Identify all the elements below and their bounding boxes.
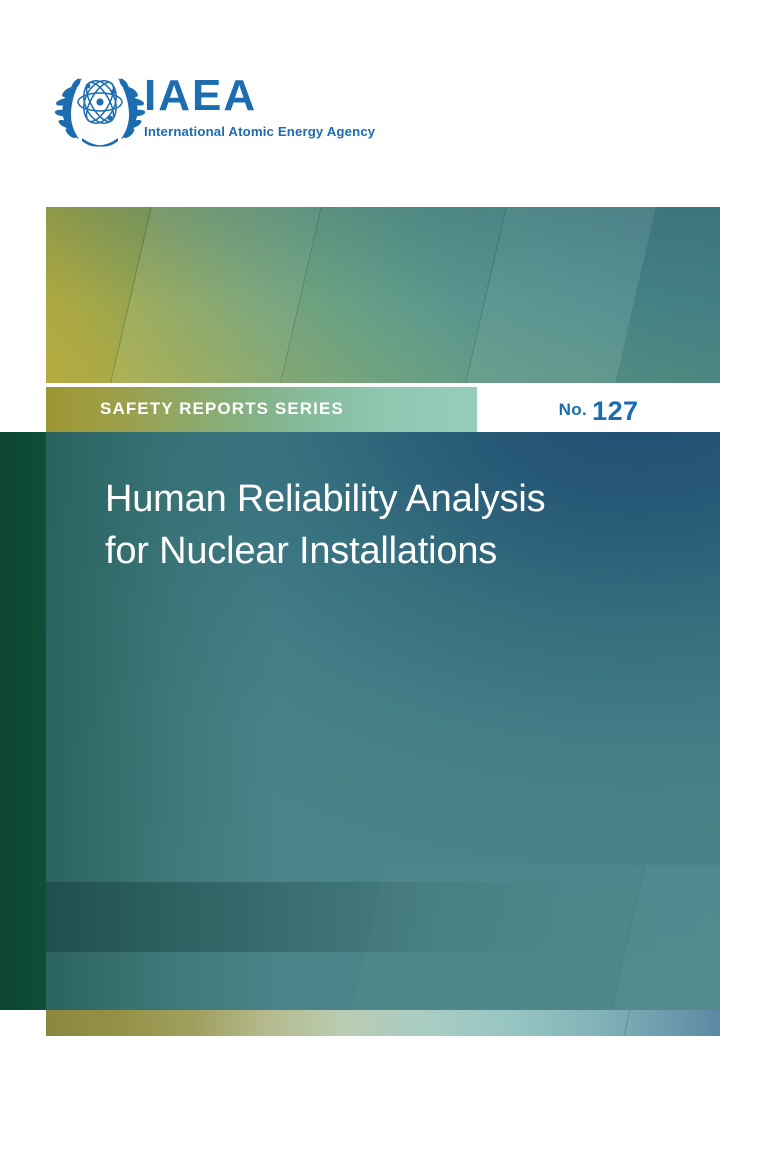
series-label: SAFETY REPORTS SERIES [100,399,344,419]
publisher-wordmark: IAEA International Atomic Energy Agency [144,72,394,140]
panel-bottom-shade [46,882,720,952]
cover-title: Human Reliability Analysis for Nuclear I… [105,473,665,577]
cover-top-gradient-band [46,207,720,383]
cover-title-line-2: for Nuclear Installations [105,525,665,577]
publisher-logo-block: IAEA International Atomic Energy Agency [52,62,392,152]
iaea-atom-laurel-logo-icon [52,62,148,150]
book-cover-artwork: SAFETY REPORTS SERIES No. 127 [0,204,766,1039]
cover-left-spine-stripe [0,432,47,1010]
series-banner: SAFETY REPORTS SERIES No. 127 [46,387,720,433]
top-band-tint-overlay [46,207,720,383]
cover-bottom-gradient-band [46,1010,720,1036]
series-number-value: 127 [592,396,638,427]
decorative-diagonal-line [620,1010,633,1036]
publisher-full-name: International Atomic Energy Agency [144,124,394,140]
series-number: No. 127 [477,387,720,433]
publisher-acronym: IAEA [144,72,394,120]
series-number-prefix: No. [559,400,588,420]
cover-title-line-1: Human Reliability Analysis [105,473,665,525]
